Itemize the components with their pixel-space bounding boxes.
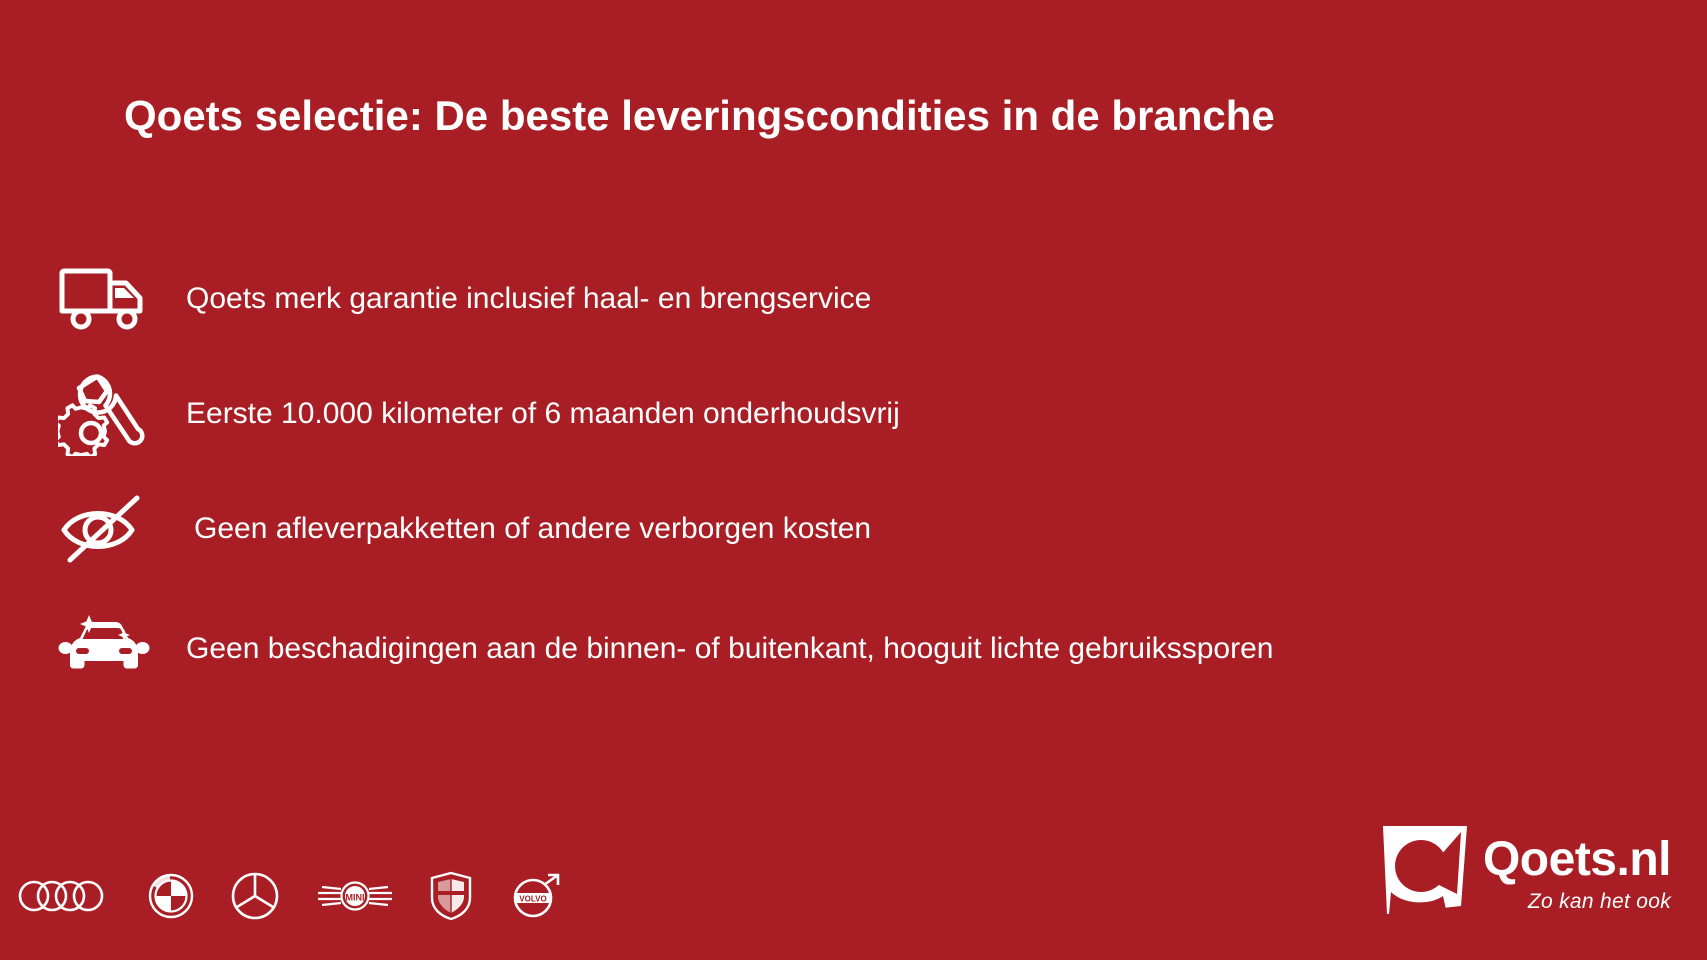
slide-title: Qoets selectie: De beste leveringscondit…	[124, 92, 1275, 140]
feature-text: Geen beschadigingen aan de binnen- of bu…	[186, 632, 1273, 665]
qoets-wordmark: Qoets.nl Zo kan het ook	[1483, 822, 1671, 914]
audi-logo	[16, 870, 112, 922]
feature-item: Eerste 10.000 kilometer of 6 maanden ond…	[56, 373, 900, 453]
qoets-mark-icon	[1377, 822, 1473, 918]
presentation-slide: Qoets selectie: De beste leveringscondit…	[0, 0, 1707, 960]
qoets-tagline: Zo kan het ook	[1483, 890, 1671, 914]
bmw-logo	[148, 870, 194, 922]
svg-text:VOLVO: VOLVO	[519, 895, 546, 904]
svg-text:MINI: MINI	[346, 893, 365, 903]
feature-text: Eerste 10.000 kilometer of 6 maanden ond…	[186, 397, 900, 430]
feature-item: Qoets merk garantie inclusief haal- en b…	[56, 258, 871, 338]
porsche-logo	[430, 870, 472, 922]
feature-text: Qoets merk garantie inclusief haal- en b…	[186, 282, 871, 315]
wrench-gear-icon	[56, 373, 152, 453]
volvo-logo: VOLVO	[508, 870, 562, 922]
feature-item: Geen afleverpakketten of andere verborge…	[56, 488, 871, 568]
brand-logo-strip: MINI VOLVO	[16, 870, 562, 922]
car-sparkle-icon	[56, 608, 152, 688]
qoets-name: Qoets.nl	[1483, 836, 1671, 884]
delivery-truck-icon	[56, 258, 152, 338]
eye-slash-icon	[56, 488, 152, 568]
qoets-logo: Qoets.nl Zo kan het ook	[1377, 822, 1671, 918]
mini-logo: MINI	[316, 870, 394, 922]
mercedes-benz-logo	[230, 870, 280, 922]
feature-item: Geen beschadigingen aan de binnen- of bu…	[56, 608, 1273, 688]
feature-text: Geen afleverpakketten of andere verborge…	[194, 512, 871, 545]
